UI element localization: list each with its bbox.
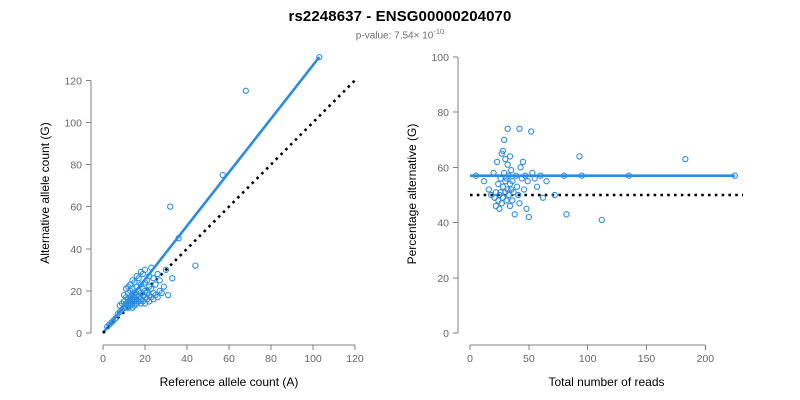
data-point: [517, 126, 522, 131]
data-point: [170, 276, 175, 281]
data-point: [493, 203, 498, 208]
scatter-panel-percentage-vs-reads: 050100150200020406080100 Total number of…: [400, 0, 800, 400]
data-point: [243, 88, 248, 93]
data-point: [512, 212, 517, 217]
data-point: [577, 154, 582, 159]
y-tick-label: 100: [431, 52, 449, 64]
data-point: [168, 204, 173, 209]
data-point: [220, 172, 225, 177]
y-tick-label: 0: [76, 328, 82, 340]
data-point: [502, 137, 507, 142]
figure-canvas: rs2248637 - ENSG00000204070 p-value: 7.5…: [0, 0, 800, 400]
left-plot-svg: 020406080100120020406080100120: [0, 0, 400, 400]
y-tick-label: 60: [70, 202, 82, 214]
data-point: [683, 157, 688, 162]
left-x-axis-title: Reference allele count (A): [43, 375, 415, 389]
y-tick-label: 60: [437, 162, 449, 174]
data-point: [161, 284, 166, 289]
y-tick-label: 40: [437, 218, 449, 230]
y-tick-label: 80: [70, 160, 82, 172]
x-tick-label: 50: [523, 353, 535, 365]
data-point: [482, 179, 487, 184]
y-tick-label: 0: [443, 328, 449, 340]
data-point: [505, 162, 510, 167]
data-point: [166, 292, 171, 297]
data-point: [155, 271, 160, 276]
data-point: [524, 206, 529, 211]
right-plot-svg: 050100150200020406080100: [400, 0, 800, 400]
data-point: [526, 214, 531, 219]
x-tick-label: 0: [467, 353, 473, 365]
regression-line: [103, 57, 319, 333]
data-point: [522, 187, 527, 192]
data-point: [544, 179, 549, 184]
data-point: [564, 212, 569, 217]
data-point: [510, 198, 515, 203]
x-tick-label: 120: [346, 353, 364, 365]
y-tick-label: 40: [70, 244, 82, 256]
data-point: [507, 203, 512, 208]
data-point: [151, 276, 156, 281]
data-point: [504, 198, 509, 203]
scatter-panel-reference-vs-alternative: 020406080100120020406080100120 Reference…: [0, 0, 400, 400]
y-tick-label: 100: [64, 117, 82, 129]
data-point: [507, 154, 512, 159]
data-point: [142, 267, 147, 272]
data-point: [494, 159, 499, 164]
data-point: [514, 184, 519, 189]
data-point: [505, 126, 510, 131]
data-point: [193, 263, 198, 268]
x-tick-label: 150: [638, 353, 656, 365]
data-point: [517, 201, 522, 206]
right-y-axis-title: Percentage alternative (G): [405, 26, 419, 362]
x-tick-label: 0: [100, 353, 106, 365]
data-point: [500, 195, 505, 200]
x-tick-label: 100: [579, 353, 597, 365]
y-tick-label: 120: [64, 75, 82, 87]
x-tick-label: 40: [181, 353, 193, 365]
x-tick-label: 20: [139, 353, 151, 365]
x-tick-label: 60: [223, 353, 235, 365]
y-tick-label: 20: [70, 286, 82, 298]
data-point: [486, 187, 491, 192]
left-y-axis-title: Alternative allele count (G): [38, 24, 52, 362]
data-point: [497, 206, 502, 211]
data-point: [520, 159, 525, 164]
data-point: [157, 278, 162, 283]
y-tick-label: 80: [437, 107, 449, 119]
x-tick-label: 80: [265, 353, 277, 365]
y-tick-label: 20: [437, 273, 449, 285]
data-point: [153, 282, 158, 287]
data-point: [518, 165, 523, 170]
data-point: [534, 184, 539, 189]
data-point: [525, 179, 530, 184]
x-tick-label: 200: [697, 353, 715, 365]
data-point: [529, 129, 534, 134]
right-x-axis-title: Total number of reads: [410, 375, 800, 389]
data-point: [540, 195, 545, 200]
x-tick-label: 100: [304, 353, 322, 365]
data-point: [599, 217, 604, 222]
data-point: [509, 168, 514, 173]
